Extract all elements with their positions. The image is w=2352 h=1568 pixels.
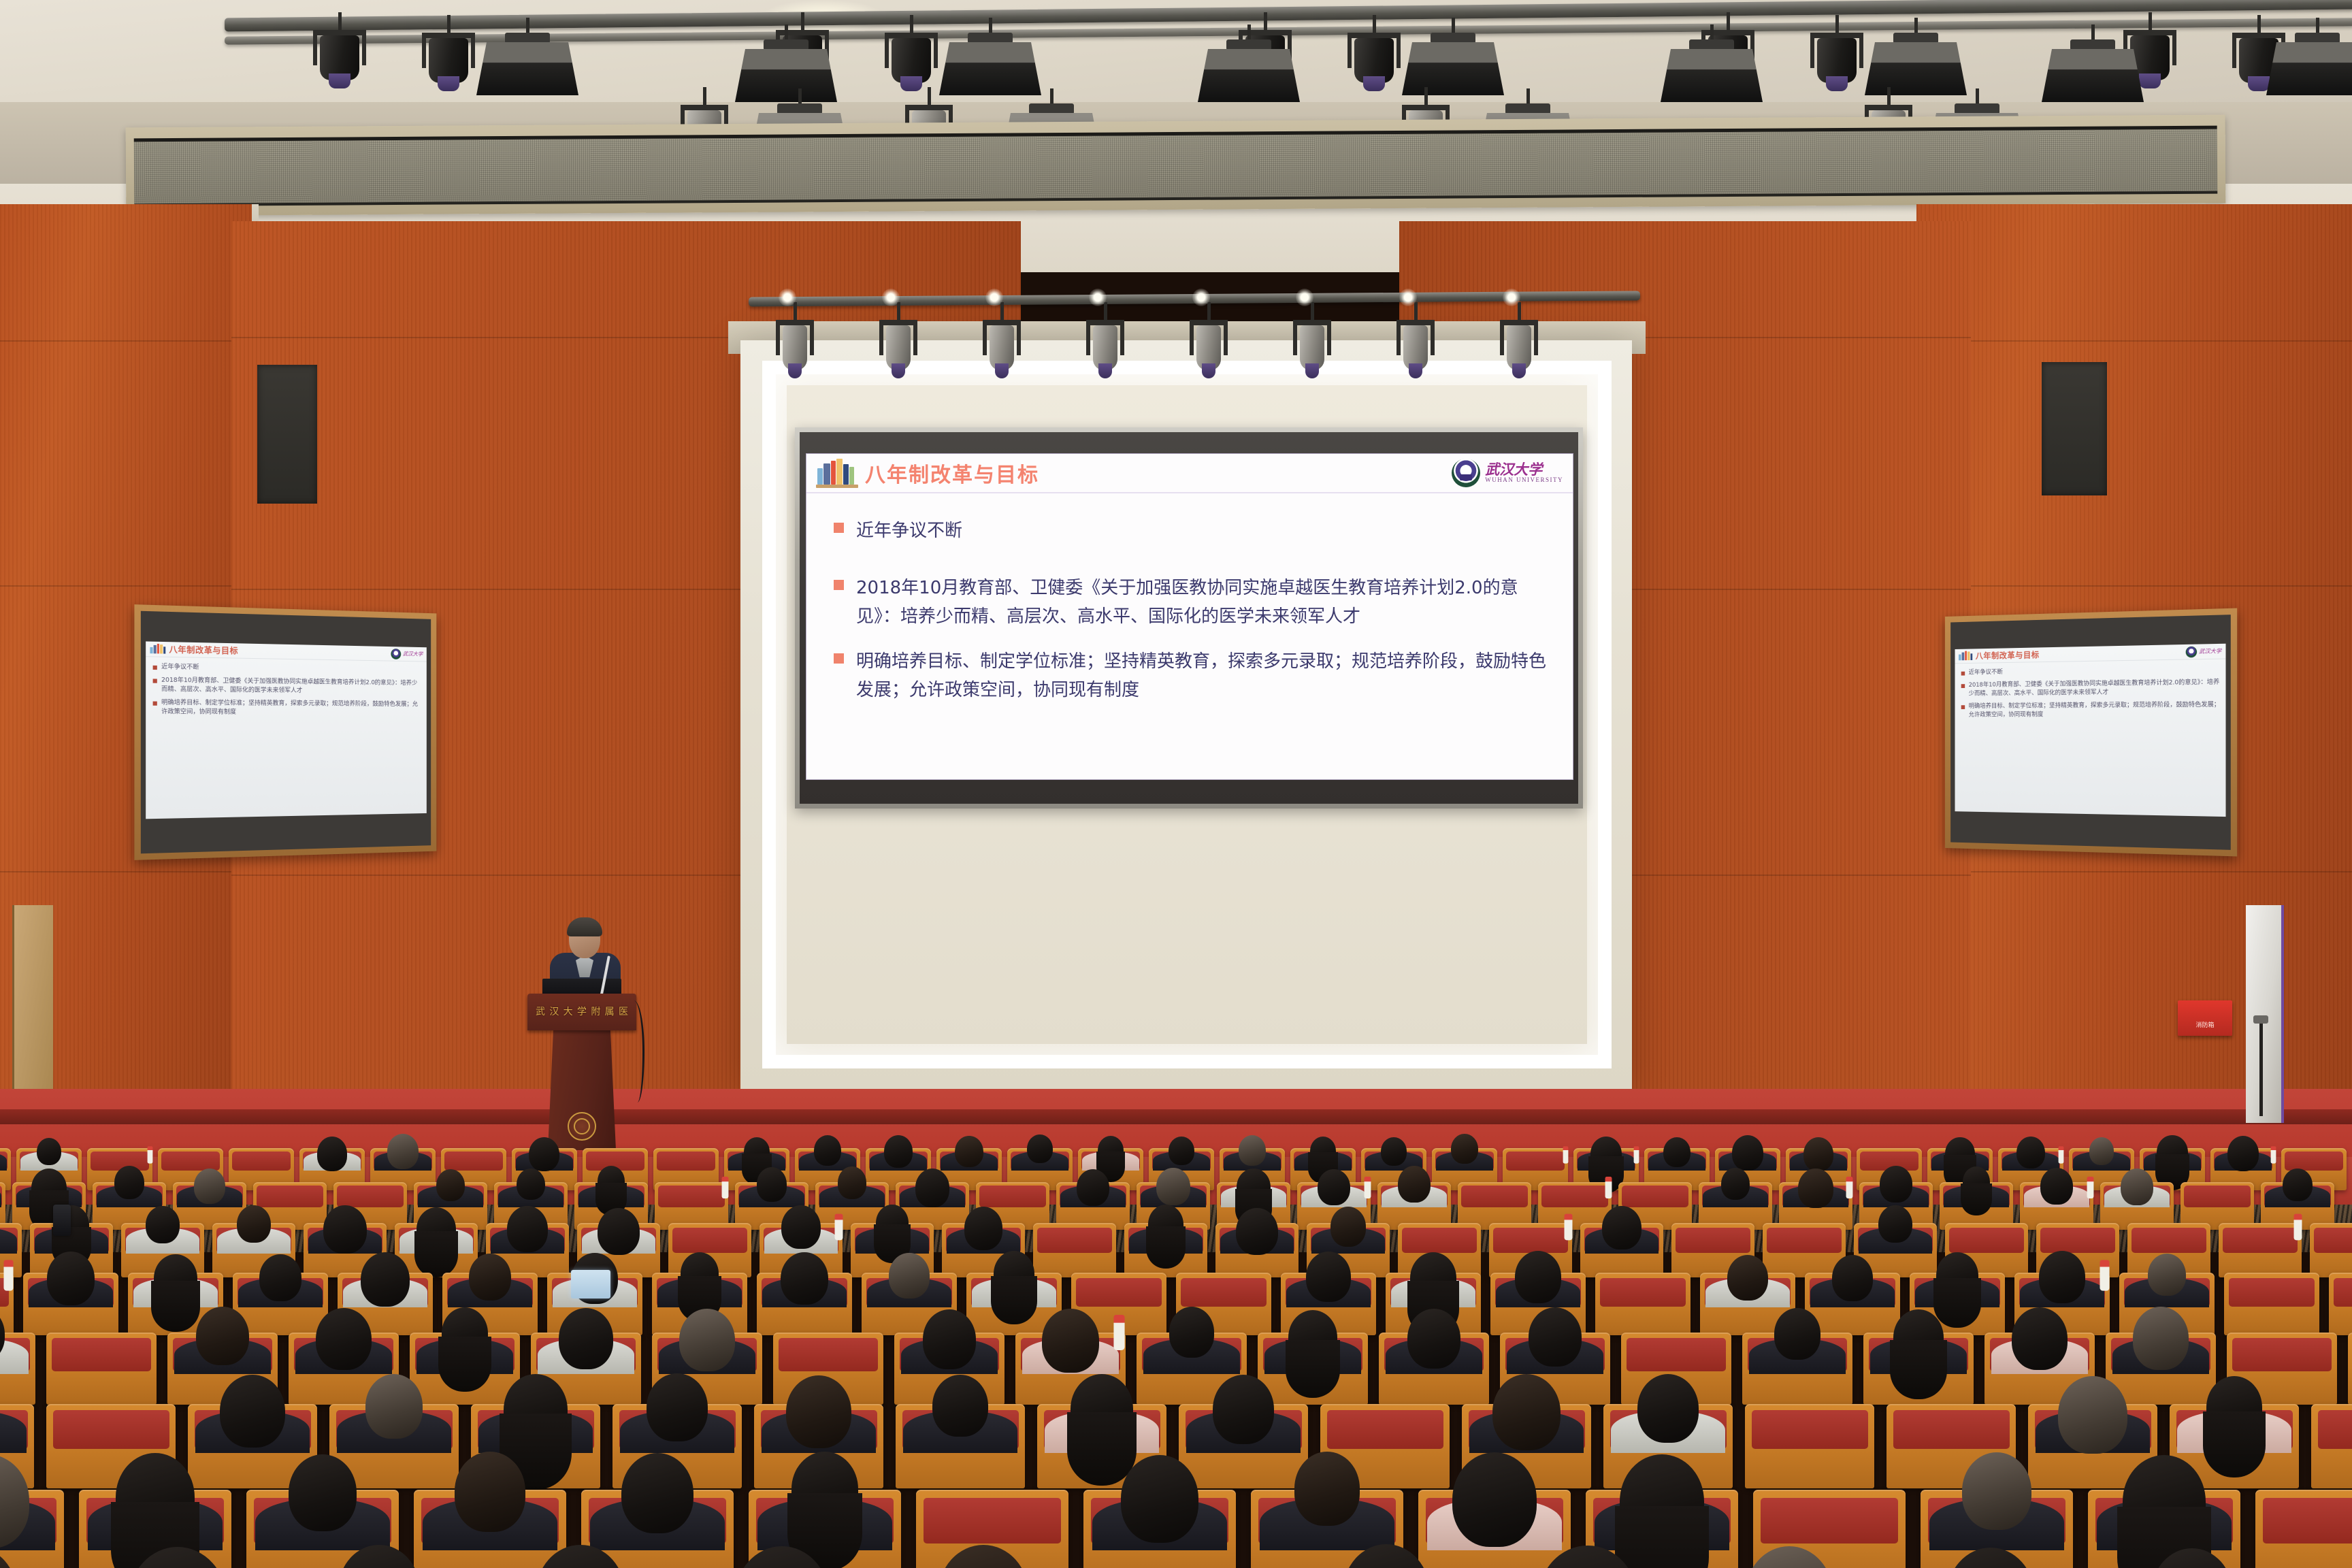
fire-equipment-box: 消防箱: [2178, 1000, 2232, 1036]
lectern: 武汉大学附属医: [527, 994, 636, 1150]
audience-member-head: [1945, 1137, 1974, 1170]
audience-member-head: [1663, 1137, 1690, 1168]
slide-title: 八年制改革与目标: [865, 458, 1039, 488]
audience-member-head: [316, 1308, 371, 1370]
lectern-inscription-char: 附: [591, 1004, 600, 1018]
audience-seat[interactable]: [2180, 1182, 2254, 1230]
water-bottle: [2271, 1146, 2276, 1163]
audience-member-head: [1239, 1135, 1266, 1166]
audience-member-head: [915, 1169, 949, 1207]
side-monitor-right: 八年制改革与目标 武汉大学 近年争议不断 2018年10月教育部、卫健委《关于加…: [1945, 608, 2237, 857]
lectern-top: 武汉大学附属医: [527, 994, 636, 1030]
acoustic-panel-left: [257, 365, 317, 504]
water-bottle: [1634, 1146, 1639, 1163]
audience-seat[interactable]: [2348, 1333, 2352, 1405]
stage-lantern: [1347, 15, 1401, 91]
stage-front-edge: [0, 1109, 2352, 1124]
water-bottle: [2059, 1146, 2064, 1163]
audience-member-head: [1774, 1308, 1820, 1360]
audience-member-head: [1832, 1255, 1874, 1301]
audience-member-head: [994, 1251, 1034, 1296]
audience-seating: [0, 1130, 2352, 1568]
bullet-text: 2018年10月教育部、卫健委《关于加强医教协同实施卓越医生教育培养计划2.0的…: [161, 676, 421, 697]
audience-member-head: [1330, 1207, 1366, 1247]
water-bottle: [2100, 1260, 2109, 1290]
audience-member-head: [1803, 1137, 1833, 1171]
audience-member-head: [1306, 1252, 1351, 1302]
audience-member-head: [647, 1373, 707, 1441]
audience-member-head: [1880, 1166, 1912, 1202]
audience-member-head: [416, 1207, 456, 1252]
stage-lantern: [1086, 302, 1124, 363]
monitor-bullet: 近年争议不断: [1961, 665, 2221, 678]
audience-member-head: [876, 1205, 909, 1241]
stage-flood-light: [1198, 24, 1300, 106]
auditorium-scene: 八年制改革与目标 武汉大学 WUHAN UNIVERSITY 近年争议不断 20…: [0, 0, 2352, 1568]
stage-lantern: [885, 15, 938, 91]
audience-tablet-device[interactable]: [571, 1270, 610, 1298]
stage-lantern: [983, 302, 1021, 363]
university-logo: 武汉大学 WUHAN UNIVERSITY: [1452, 459, 1563, 487]
audience-member-head: [323, 1205, 366, 1254]
audience-member-head: [2227, 1136, 2259, 1171]
audience-member-head: [2206, 1376, 2263, 1439]
stage-flood-light: [2042, 24, 2144, 106]
side-door-left[interactable]: [12, 905, 53, 1109]
water-bottle: [1846, 1177, 1853, 1198]
bullet-text: 明确培养目标、制定学位标准；坚持精英教育，探索多元录取；规范培养阶段，鼓励特色发…: [161, 699, 421, 718]
audience-member-head: [1962, 1452, 2031, 1530]
audience-member-head: [1963, 1166, 1991, 1197]
audience-seat[interactable]: [1458, 1182, 1531, 1230]
audience-seat[interactable]: [46, 1333, 157, 1405]
audience-member-head: [2148, 1254, 2186, 1296]
audience-member-head: [955, 1136, 983, 1167]
audience-member-head: [1590, 1137, 1622, 1172]
audience-seat[interactable]: [2311, 1404, 2352, 1488]
stage-right-doorway[interactable]: [2246, 905, 2284, 1123]
lectern-inscription-char: 武: [536, 1004, 545, 1018]
audience-seat[interactable]: [2219, 1223, 2302, 1277]
university-name-cn: 武汉大学: [1485, 462, 1563, 477]
stage-lantern: [1500, 302, 1538, 363]
audience-seat[interactable]: [2224, 1273, 2319, 1335]
acoustic-mesh: [134, 126, 2218, 207]
slide-body: 近年争议不断 2018年10月教育部、卫健委《关于加强医教协同实施卓越医生教育培…: [806, 493, 1573, 705]
stage-lantern: [1396, 302, 1435, 363]
audience-member-head: [154, 1254, 197, 1303]
stage-lantern: [313, 12, 366, 88]
audience-member-head: [781, 1252, 828, 1305]
audience-member-head: [1732, 1135, 1763, 1171]
audience-member-head: [1288, 1310, 1337, 1365]
stage-lantern: [1293, 302, 1331, 363]
audience-member-head: [1156, 1168, 1190, 1205]
audience-seat[interactable]: [1538, 1182, 1612, 1230]
audience-member-head: [196, 1307, 248, 1366]
audience-member-head: [791, 1452, 858, 1526]
presentation-slide: 八年制改革与目标 武汉大学 WUHAN UNIVERSITY 近年争议不断 20…: [806, 453, 1573, 780]
bar-bulb-glow: [1399, 289, 1417, 306]
audience-member-head: [1294, 1452, 1360, 1525]
bar-bulb-glow: [985, 289, 1003, 306]
bar-bulb-glow: [779, 289, 796, 306]
audience-member-head: [889, 1253, 929, 1298]
slide-bullet: 2018年10月教育部、卫健委《关于加强医教协同实施卓越医生教育培养计划2.0的…: [834, 574, 1550, 631]
water-bottle: [3, 1260, 13, 1290]
stage-flood-light: [939, 18, 1041, 99]
audience-member-head: [2121, 1169, 2153, 1205]
water-bottle: [148, 1146, 153, 1163]
audience-member-head: [2157, 1135, 2187, 1170]
monitor-slide: 八年制改革与目标 武汉大学 近年争议不断 2018年10月教育部、卫健委《关于加…: [1955, 644, 2226, 817]
audience-member-head: [116, 1453, 195, 1541]
audience-member-head: [289, 1454, 357, 1531]
stage-lantern: [879, 302, 917, 363]
audience-member-head: [1798, 1169, 1833, 1207]
audience-member-head: [744, 1137, 770, 1167]
bullet-square-icon: [834, 523, 844, 533]
water-bottle: [1605, 1177, 1612, 1198]
audience-seat[interactable]: [1033, 1223, 1116, 1277]
bullet-text: 近年争议不断: [161, 663, 199, 672]
audience-member-head: [529, 1137, 559, 1171]
university-crest-icon: [1452, 459, 1480, 487]
stage-lantern: [1190, 302, 1228, 363]
audience-member-head: [1236, 1208, 1278, 1255]
books-icon: [816, 458, 858, 488]
audience-member-head: [1529, 1307, 1581, 1367]
audience-member-head: [1169, 1137, 1194, 1165]
audience-member-head: [838, 1166, 867, 1199]
stage-flood-light: [476, 18, 578, 99]
stage-lantern: [776, 302, 814, 363]
audience-member-head: [1727, 1255, 1768, 1301]
audience-seat[interactable]: [2255, 1490, 2352, 1568]
lectern-inscription-char: 大: [563, 1004, 573, 1018]
audience-member-head: [1637, 1374, 1699, 1443]
audience-member-head: [1071, 1374, 1133, 1443]
audience-member-head: [442, 1307, 489, 1360]
audience-member-head: [1169, 1307, 1214, 1357]
audience-member-head: [1213, 1375, 1275, 1444]
water-bottle: [2087, 1177, 2094, 1198]
audience-member-head: [2089, 1137, 2114, 1165]
bullet-square-icon: [834, 653, 844, 664]
water-bottle: [834, 1214, 843, 1241]
audience-member-head: [146, 1206, 179, 1243]
audience-member-head: [932, 1375, 987, 1437]
bullet-text: 2018年10月教育部、卫健委《关于加强医教协同实施卓越医生教育培养计划2.0的…: [856, 574, 1550, 631]
monitor-bullet: 明确培养目标、制定学位标准；坚持精英教育，探索多元录取；规范培养阶段，鼓励特色发…: [1961, 701, 2221, 720]
water-bottle: [1365, 1177, 1371, 1198]
audience-member-head: [1398, 1166, 1431, 1203]
audience-member-head: [1452, 1452, 1537, 1547]
audience-member-head: [47, 1252, 95, 1305]
audience-member-head: [2012, 1307, 2068, 1370]
stage-flood-light: [2266, 18, 2352, 99]
slide-header: 八年制改革与目标 武汉大学 WUHAN UNIVERSITY: [806, 454, 1573, 493]
audience-member-head: [507, 1206, 548, 1252]
lectern-inscription-char: 学: [577, 1004, 587, 1018]
audience-member-head: [504, 1374, 568, 1446]
university-crest-icon: [2186, 646, 2197, 657]
audience-member-head: [31, 1169, 67, 1208]
audience-member-head: [679, 1309, 735, 1371]
books-icon: [150, 643, 165, 655]
audience-member-head: [757, 1167, 787, 1201]
audience-member-head: [1077, 1169, 1109, 1206]
audience-member-head: [317, 1137, 348, 1171]
audience-member-head: [1042, 1309, 1098, 1372]
stage-lantern: [422, 15, 475, 91]
audience-member-head: [455, 1452, 526, 1531]
audience-member-head: [237, 1205, 270, 1243]
audience-member-head: [1310, 1137, 1337, 1166]
audience-member-head: [436, 1169, 465, 1201]
bullet-text: 明确培养目标、制定学位标准；坚持精英教育，探索多元录取；规范培养阶段，鼓励特色发…: [856, 647, 1550, 704]
audience-member-head: [964, 1207, 1003, 1250]
audience-member-head: [814, 1135, 841, 1166]
lectern-inscription: 武汉大学附属医: [536, 1004, 628, 1018]
audience-member-head: [2133, 1307, 2189, 1370]
monitor-bullet: 2018年10月教育部、卫健委《关于加强医教协同实施卓越医生教育培养计划2.0的…: [153, 676, 422, 696]
audience-seat[interactable]: [1595, 1273, 1690, 1335]
university-crest-icon: [391, 649, 401, 659]
fire-box-label: 消防箱: [2178, 1020, 2232, 1029]
audience-member-head: [2058, 1376, 2127, 1453]
audience-member-head: [1121, 1455, 1199, 1543]
audience-member-head: [598, 1166, 625, 1196]
monitor-slide-title: 八年制改革与目标: [1976, 649, 2040, 661]
audience-member-head: [220, 1375, 284, 1448]
audience-member-head: [1410, 1252, 1456, 1304]
audience-member-head: [2039, 1251, 2086, 1303]
audience-member-head: [1492, 1374, 1561, 1450]
audience-seat[interactable]: [2310, 1223, 2352, 1277]
university-name-cn: 武汉大学: [403, 650, 423, 657]
lectern-inscription-char: 汉: [549, 1004, 559, 1018]
audience-member-head: [884, 1135, 913, 1167]
audience-member-head: [598, 1208, 639, 1255]
monitor-slide-title: 八年制改革与目标: [169, 643, 238, 656]
bullet-text: 明确培养目标、制定学位标准；坚持精英教育，探索多元录取；规范培养阶段，鼓励特色发…: [1969, 701, 2220, 720]
audience-member-head: [1098, 1136, 1124, 1165]
monitor-slide: 八年制改革与目标 武汉大学 近年争议不断 2018年10月教育部、卫健委《关于加…: [146, 641, 427, 819]
audience-member-head: [1602, 1206, 1641, 1249]
audience-member-head: [114, 1166, 144, 1199]
audience-member-head: [2123, 1455, 2206, 1548]
lectern-inscription-char: 属: [605, 1004, 615, 1018]
audience-member-head: [194, 1169, 225, 1204]
books-icon: [1959, 651, 1972, 661]
audience-member-head: [1407, 1309, 1461, 1369]
audience-seat[interactable]: [655, 1182, 728, 1230]
monitor-bullet: 近年争议不断: [153, 663, 422, 676]
acoustic-panel-right: [2042, 362, 2107, 495]
audience-member-head: [781, 1205, 821, 1249]
audience-smartphone[interactable]: [53, 1205, 71, 1236]
acoustic-band-frame: [126, 115, 2226, 216]
bar-bulb-glow: [882, 289, 900, 306]
bar-bulb-glow: [1192, 289, 1210, 306]
slide-bullet: 近年争议不断: [834, 517, 1550, 545]
audience-member-head: [1878, 1205, 1912, 1243]
monitor-bullet: 2018年10月教育部、卫健委《关于加强医教协同实施卓越医生教育培养计划2.0的…: [1961, 679, 2221, 699]
university-name-cn: 武汉大学: [2199, 647, 2221, 655]
audience-member-head: [1027, 1134, 1053, 1163]
audience-member-head: [1893, 1309, 1944, 1366]
audience-member-head: [387, 1134, 419, 1169]
water-bottle: [1113, 1315, 1124, 1350]
audience-member-head: [1318, 1169, 1350, 1205]
audience-member-head: [517, 1169, 545, 1200]
bullet-square-icon: [834, 580, 844, 590]
bullet-text: 近年争议不断: [856, 517, 962, 545]
audience-seat[interactable]: [1745, 1404, 1874, 1488]
audience-member-head: [469, 1254, 511, 1301]
stage-lantern: [1810, 15, 1863, 91]
audience-member-head: [1451, 1134, 1478, 1164]
audience-seat[interactable]: [2329, 1273, 2352, 1335]
audience-member-head: [2283, 1169, 2312, 1201]
bullet-text: 近年争议不断: [1969, 668, 2003, 677]
water-bottle: [722, 1177, 729, 1198]
speaker-hair: [567, 917, 602, 936]
audience-member-head: [1515, 1251, 1561, 1303]
audience-member-head: [2040, 1168, 2073, 1205]
audience-member-head: [1381, 1137, 1406, 1166]
bar-bulb-glow: [1503, 289, 1520, 306]
bar-bulb-glow: [1089, 289, 1107, 306]
stage-flood-light: [1661, 24, 1763, 106]
audience-member-head: [1237, 1169, 1270, 1206]
audience-member-head: [559, 1308, 613, 1369]
audience-member-head: [1721, 1168, 1750, 1200]
audience-member-head: [923, 1309, 977, 1369]
slide-bullet: 明确培养目标、制定学位标准；坚持精英教育，探索多元录取；规范培养阶段，鼓励特色发…: [834, 647, 1550, 704]
audience-member-head: [37, 1138, 61, 1165]
bullet-text: 2018年10月教育部、卫健委《关于加强医教协同实施卓越医生教育培养计划2.0的…: [1969, 679, 2220, 699]
audience-member-head: [1148, 1205, 1183, 1245]
audience-member-head: [681, 1252, 719, 1296]
audience-member-head: [2016, 1137, 2045, 1169]
audience-member-head: [365, 1374, 423, 1439]
mic-stand: [2259, 1021, 2263, 1116]
audience-member-head: [259, 1254, 301, 1301]
audience-member-head: [786, 1375, 851, 1449]
audience-member-head: [1620, 1454, 1704, 1549]
bar-bulb-glow: [1296, 289, 1313, 306]
audience-member-head: [361, 1252, 410, 1307]
water-bottle: [1564, 1214, 1572, 1241]
university-name-en: WUHAN UNIVERSITY: [1485, 477, 1563, 483]
monitor-bullet: 明确培养目标、制定学位标准；坚持精英教育，探索多元录取；规范培养阶段，鼓励特色发…: [153, 699, 422, 718]
water-bottle: [1563, 1146, 1569, 1163]
water-bottle: [2293, 1214, 2302, 1241]
audience-member-head: [621, 1453, 693, 1534]
side-monitor-left: 八年制改革与目标 武汉大学 近年争议不断 2018年10月教育部、卫健委《关于加…: [134, 604, 436, 860]
audience-member-head: [1936, 1252, 1978, 1299]
